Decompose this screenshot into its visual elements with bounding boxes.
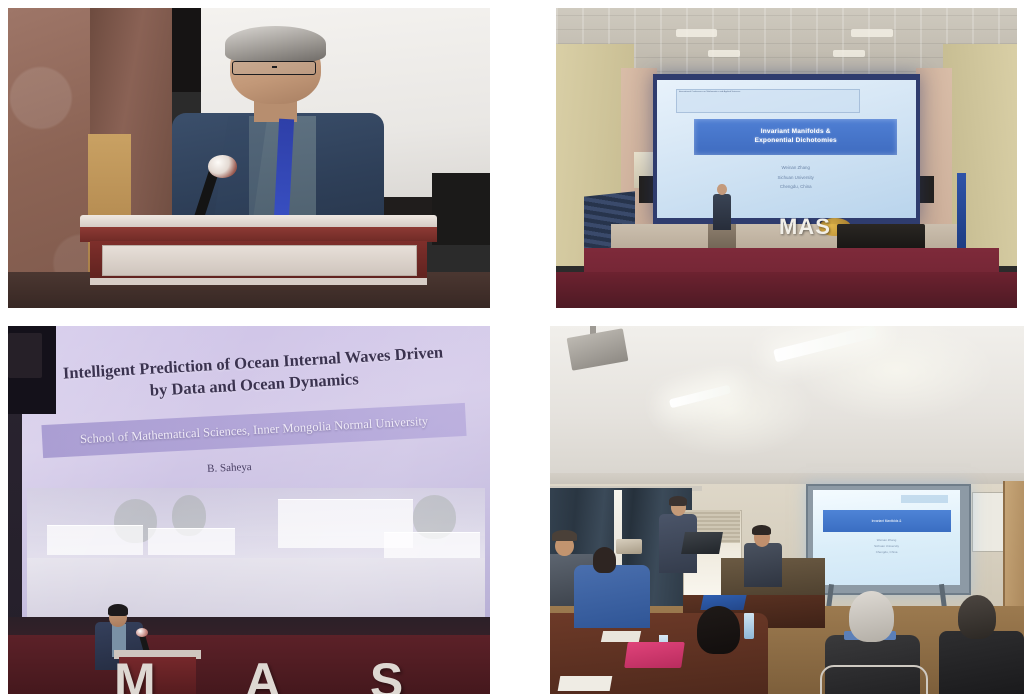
stage-letter-a: A <box>245 661 281 694</box>
stage-letters-text: MAS <box>779 214 831 240</box>
attendee-body <box>574 565 650 628</box>
photo-collage: International Conference on Mathematics … <box>0 0 1024 694</box>
photo-panel-top-left[interactable] <box>8 8 490 308</box>
chair-back <box>820 665 928 694</box>
photo-panel-top-right[interactable]: International Conference on Mathematics … <box>556 8 1017 308</box>
slide-presentation-scene: Intelligent Prediction of Ocean Internal… <box>8 326 490 694</box>
stage-letters: MAS <box>745 214 865 241</box>
attendee-head <box>593 547 617 573</box>
speaker-figure <box>713 194 731 230</box>
ceiling-light <box>708 50 740 57</box>
light-glow <box>645 363 816 459</box>
podium-panel <box>102 245 417 276</box>
seated-person-body <box>744 543 782 587</box>
slide-title-line-2: Exponential Dichotomies <box>755 137 837 146</box>
wall-speaker-box <box>8 333 42 377</box>
slide-affiliation: Sichuan University <box>874 545 899 549</box>
ceiling-light <box>851 29 892 37</box>
stage-letters: M A S <box>114 661 403 694</box>
auditorium-scene: International Conference on Mathematics … <box>556 8 1017 308</box>
podium-foot <box>90 278 427 285</box>
laptop <box>681 532 723 554</box>
slide-author: Weinan Zhang <box>877 539 896 543</box>
attendee-hat <box>552 530 577 541</box>
stage-letter-m: M <box>114 661 156 694</box>
ceiling-light <box>833 50 865 57</box>
papers <box>601 631 641 642</box>
presenter-hair <box>669 496 687 506</box>
slide-author: B. Saheya <box>207 461 252 475</box>
papers <box>558 676 613 691</box>
attendee-head <box>697 606 740 654</box>
attendee-head <box>849 591 894 643</box>
slide-city: Chengdu, China <box>876 551 898 555</box>
screen-edge-dark <box>432 173 490 245</box>
microphone-icon <box>208 155 237 178</box>
floor-carpet <box>556 272 1017 308</box>
slide-city: Chengdu, China <box>780 184 812 191</box>
slide-title-box: Invariant Manifolds & <box>823 510 951 532</box>
slide-author: Weinan Zhang <box>781 165 809 172</box>
seated-person-hair <box>752 525 771 535</box>
stage-letter-s: S <box>370 661 403 694</box>
slide-header-note <box>901 495 948 502</box>
slide-affiliation: Sichuan University <box>778 175 814 182</box>
slide-title-line-1: Invariant Manifolds & <box>872 519 902 523</box>
glasses-icon <box>232 61 316 76</box>
lecture-hall-scene <box>8 8 490 308</box>
slide-header-text: International Conference on Mathematics … <box>679 91 857 94</box>
pink-folder <box>624 642 684 668</box>
speaker-hair <box>225 26 326 62</box>
slide-title-line-1: Invariant Manifolds & <box>761 128 831 137</box>
slide-title-box: Invariant Manifolds & Exponential Dichot… <box>694 119 897 155</box>
water-bottle <box>744 613 753 639</box>
slide-author-block: Weinan Zhang Sichuan University Chengdu,… <box>844 539 929 572</box>
seminar-room-scene: Invariant Manifolds & Weinan Zhang Sichu… <box>550 326 1024 694</box>
attendee-body <box>939 631 1024 694</box>
photo-panel-bottom-left[interactable]: Intelligent Prediction of Ocean Internal… <box>8 326 490 694</box>
door <box>1003 481 1024 621</box>
slide-header-note: International Conference on Mathematics … <box>676 89 860 113</box>
speaker-hair <box>108 604 128 616</box>
attendee-head <box>958 595 996 639</box>
ceiling-light <box>676 29 717 37</box>
flag <box>957 173 966 251</box>
camera <box>616 539 642 554</box>
photo-panel-bottom-right[interactable]: Invariant Manifolds & Weinan Zhang Sichu… <box>550 326 1024 694</box>
